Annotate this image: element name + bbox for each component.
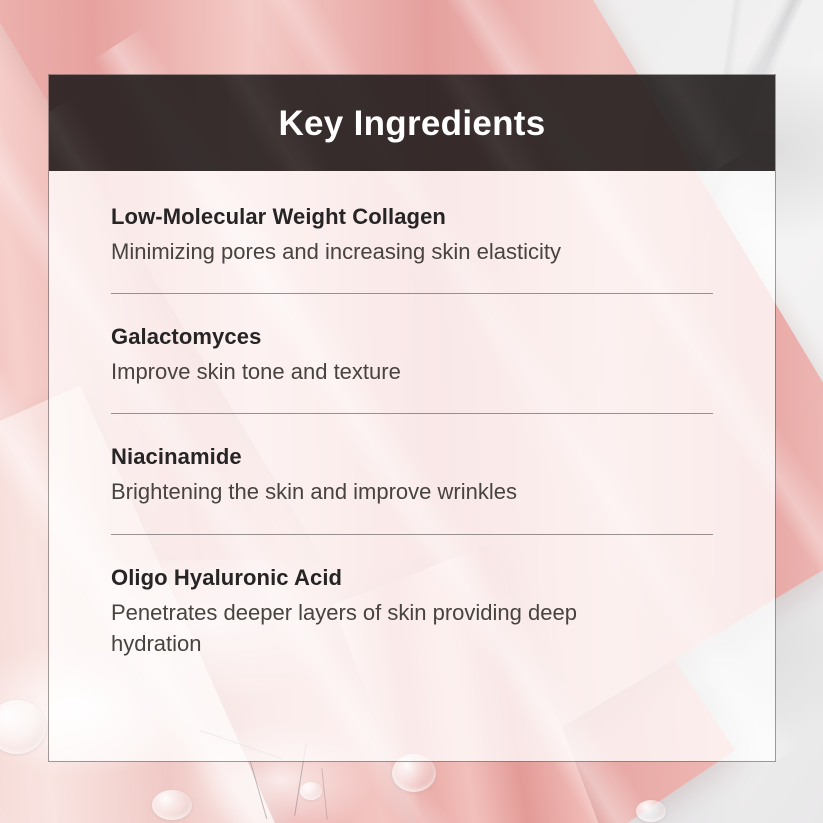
- ingredient-name: Galactomyces: [111, 324, 713, 350]
- list-item: Galactomyces Improve skin tone and textu…: [111, 294, 713, 414]
- list-item: Oligo Hyaluronic Acid Penetrates deeper …: [111, 535, 713, 659]
- key-ingredients-card: Key Ingredients Low-Molecular Weight Col…: [48, 74, 776, 762]
- water-droplet: [300, 782, 322, 800]
- card-header-bar: Key Ingredients: [49, 75, 775, 171]
- water-droplet: [636, 800, 666, 822]
- page-title: Key Ingredients: [278, 106, 545, 141]
- ingredient-description: Brightening the skin and improve wrinkle…: [111, 476, 671, 507]
- ingredient-description: Penetrates deeper layers of skin providi…: [111, 597, 656, 659]
- product-infographic-image: Key Ingredients Low-Molecular Weight Col…: [0, 0, 823, 823]
- ingredient-description: Minimizing pores and increasing skin ela…: [111, 236, 671, 267]
- ingredient-name: Oligo Hyaluronic Acid: [111, 565, 713, 591]
- ingredients-list: Low-Molecular Weight Collagen Minimizing…: [49, 171, 775, 761]
- ingredient-name: Low-Molecular Weight Collagen: [111, 204, 713, 230]
- ingredient-name: Niacinamide: [111, 444, 713, 470]
- list-item: Niacinamide Brightening the skin and imp…: [111, 414, 713, 534]
- water-droplet: [152, 790, 192, 820]
- ingredient-description: Improve skin tone and texture: [111, 356, 671, 387]
- list-item: Low-Molecular Weight Collagen Minimizing…: [111, 171, 713, 294]
